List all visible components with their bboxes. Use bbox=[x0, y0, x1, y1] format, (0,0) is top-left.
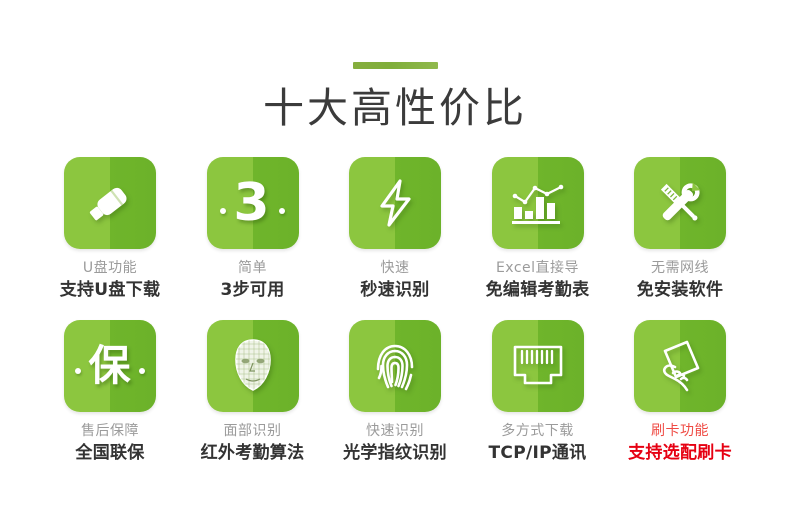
feature-labels: 多方式下载 TCP/IP通讯 bbox=[489, 422, 587, 465]
feature-labels: 简单 3步可用 bbox=[220, 259, 284, 302]
title-underline-rule bbox=[353, 62, 438, 69]
ethernet-rj45-icon bbox=[507, 341, 569, 391]
feature-cell-usb[interactable]: U盘功能 支持U盘下载 bbox=[45, 157, 175, 302]
card-swipe-hand-icon bbox=[651, 335, 709, 397]
feature-title: 支持选配刷卡 bbox=[628, 442, 732, 465]
feature-highlights-page: 十大高性价比 U bbox=[0, 0, 790, 520]
feature-subtitle: Excel直接导 bbox=[486, 259, 590, 278]
feature-tile-usb[interactable] bbox=[64, 157, 156, 249]
feature-subtitle: 售后保障 bbox=[75, 422, 144, 441]
feature-tile-face-recognition[interactable] bbox=[207, 320, 299, 412]
bar-chart-icon bbox=[507, 174, 569, 232]
feature-title: 秒速识别 bbox=[360, 279, 429, 302]
feature-tile-tcpip[interactable] bbox=[492, 320, 584, 412]
feature-labels: 快速 秒速识别 bbox=[360, 259, 429, 302]
fingerprint-icon bbox=[366, 335, 424, 397]
wrench-screwdriver-icon bbox=[650, 173, 710, 233]
feature-title: 红外考勤算法 bbox=[201, 442, 305, 465]
feature-title: 支持U盘下载 bbox=[60, 279, 161, 302]
feature-cell-no-install[interactable]: 无需网线 免安装软件 bbox=[615, 157, 745, 302]
features-row-1: U盘功能 支持U盘下载 3 简单 3步可用 bbox=[45, 157, 745, 302]
usb-drive-icon bbox=[79, 172, 141, 234]
feature-labels: U盘功能 支持U盘下载 bbox=[60, 259, 161, 302]
feature-labels: 刷卡功能 支持选配刷卡 bbox=[628, 422, 732, 465]
feature-subtitle: 快速识别 bbox=[343, 422, 447, 441]
feature-cell-fingerprint[interactable]: 快速识别 光学指纹识别 bbox=[330, 320, 460, 465]
feature-tile-three-steps[interactable]: 3 bbox=[207, 157, 299, 249]
dot-right bbox=[139, 368, 145, 374]
dot-left bbox=[220, 208, 226, 214]
feature-labels: Excel直接导 免编辑考勤表 bbox=[486, 259, 590, 302]
features-grid: U盘功能 支持U盘下载 3 简单 3步可用 bbox=[45, 131, 745, 465]
feature-cell-face-recognition[interactable]: 面部识别 红外考勤算法 bbox=[188, 320, 318, 465]
feature-subtitle: 刷卡功能 bbox=[628, 422, 732, 441]
feature-tile-warranty[interactable]: 保 bbox=[64, 320, 156, 412]
feature-title: 免编辑考勤表 bbox=[486, 279, 590, 302]
features-row-2: 保 售后保障 全国联保 bbox=[45, 320, 745, 465]
feature-cell-tcpip[interactable]: 多方式下载 TCP/IP通讯 bbox=[473, 320, 603, 465]
number-three-icon: 3 bbox=[213, 177, 291, 229]
page-title: 十大高性价比 bbox=[0, 85, 790, 131]
lightning-bolt-icon bbox=[366, 174, 424, 232]
feature-subtitle: 面部识别 bbox=[201, 422, 305, 441]
feature-labels: 售后保障 全国联保 bbox=[75, 422, 144, 465]
feature-subtitle: 多方式下载 bbox=[489, 422, 587, 441]
feature-subtitle: U盘功能 bbox=[60, 259, 161, 278]
feature-subtitle: 快速 bbox=[360, 259, 429, 278]
dot-left bbox=[75, 368, 81, 374]
feature-tile-no-install[interactable] bbox=[634, 157, 726, 249]
feature-title: TCP/IP通讯 bbox=[489, 442, 587, 465]
bao-glyph: 保 bbox=[88, 341, 131, 390]
feature-cell-warranty[interactable]: 保 售后保障 全国联保 bbox=[45, 320, 175, 465]
feature-title: 3步可用 bbox=[220, 279, 284, 302]
feature-tile-excel-export[interactable] bbox=[492, 157, 584, 249]
feature-cell-excel-export[interactable]: Excel直接导 免编辑考勤表 bbox=[473, 157, 603, 302]
warranty-bao-icon: 保 bbox=[68, 345, 151, 387]
feature-tile-fast-recognition[interactable] bbox=[349, 157, 441, 249]
page-header: 十大高性价比 bbox=[0, 0, 790, 131]
feature-tile-card-swipe[interactable] bbox=[634, 320, 726, 412]
feature-title: 光学指纹识别 bbox=[343, 442, 447, 465]
feature-labels: 快速识别 光学指纹识别 bbox=[343, 422, 447, 465]
feature-labels: 无需网线 免安装软件 bbox=[637, 259, 724, 302]
feature-subtitle: 简单 bbox=[220, 259, 284, 278]
feature-cell-card-swipe[interactable]: 刷卡功能 支持选配刷卡 bbox=[615, 320, 745, 465]
dot-right bbox=[279, 208, 285, 214]
three-glyph: 3 bbox=[233, 173, 271, 233]
feature-title: 免安装软件 bbox=[637, 279, 724, 302]
feature-title: 全国联保 bbox=[75, 442, 144, 465]
feature-tile-fingerprint[interactable] bbox=[349, 320, 441, 412]
face-mesh-icon bbox=[226, 336, 280, 396]
feature-labels: 面部识别 红外考勤算法 bbox=[201, 422, 305, 465]
feature-subtitle: 无需网线 bbox=[637, 259, 724, 278]
feature-cell-fast-recognition[interactable]: 快速 秒速识别 bbox=[330, 157, 460, 302]
feature-cell-three-steps[interactable]: 3 简单 3步可用 bbox=[188, 157, 318, 302]
